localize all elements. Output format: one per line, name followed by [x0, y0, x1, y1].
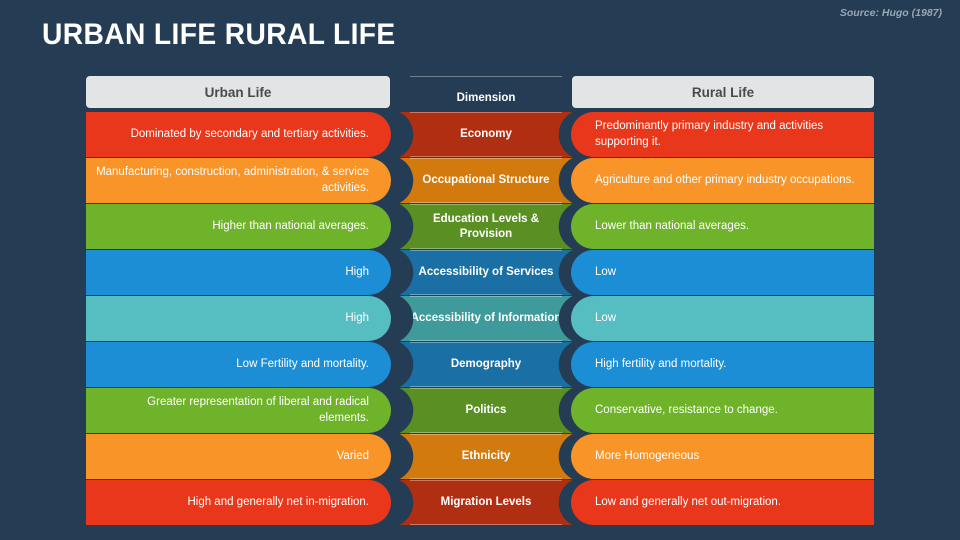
- slide-canvas: URBAN LIFE RURAL LIFE Source: Hugo (1987…: [0, 0, 960, 540]
- table-row: Greater representation of liberal and ra…: [86, 388, 874, 433]
- column-header-urban: Urban Life: [86, 76, 390, 108]
- page-title: URBAN LIFE RURAL LIFE: [42, 18, 396, 52]
- table-row: Dominated by secondary and tertiary acti…: [86, 112, 874, 157]
- dimension-cell: Demography: [392, 342, 580, 387]
- urban-cell: High: [86, 296, 391, 341]
- urban-cell: Greater representation of liberal and ra…: [86, 388, 391, 433]
- urban-cell: Higher than national averages.: [86, 204, 391, 249]
- rural-cell: Conservative, resistance to change.: [571, 388, 874, 433]
- urban-cell: Dominated by secondary and tertiary acti…: [86, 112, 391, 157]
- rural-cell: Low: [571, 250, 874, 295]
- column-header-rural: Rural Life: [572, 76, 874, 108]
- urban-cell: High and generally net in-migration.: [86, 480, 391, 525]
- dimension-cell: Ethnicity: [392, 434, 580, 479]
- dimension-cell: Education Levels & Provision: [392, 204, 580, 249]
- table-row: Low Fertility and mortality.DemographyHi…: [86, 342, 874, 387]
- dimension-cell: Occupational Structure: [392, 158, 580, 203]
- rural-cell: Lower than national averages.: [571, 204, 874, 249]
- table-row: VariedEthnicityMore Homogeneous: [86, 434, 874, 479]
- dimension-cell: Politics: [392, 388, 580, 433]
- urban-cell: High: [86, 250, 391, 295]
- table-row: Manufacturing, construction, administrat…: [86, 158, 874, 203]
- table-row: Higher than national averages.Education …: [86, 204, 874, 249]
- dimension-cell: Economy: [392, 112, 580, 157]
- rural-cell: Agriculture and other primary industry o…: [571, 158, 874, 203]
- urban-cell: Varied: [86, 434, 391, 479]
- urban-cell: Manufacturing, construction, administrat…: [86, 158, 391, 203]
- dimension-cell: Accessibility of Information: [392, 296, 580, 341]
- source-citation: Source: Hugo (1987): [840, 7, 942, 19]
- dimension-cell: Accessibility of Services: [392, 250, 580, 295]
- rural-cell: Predominantly primary industry and activ…: [571, 112, 874, 157]
- table-row: HighAccessibility of ServicesLow: [86, 250, 874, 295]
- rural-cell: High fertility and mortality.: [571, 342, 874, 387]
- table-row: HighAccessibility of InformationLow: [86, 296, 874, 341]
- rural-cell: More Homogeneous: [571, 434, 874, 479]
- dimension-cell: Migration Levels: [392, 480, 580, 525]
- table-row: High and generally net in-migration.Migr…: [86, 480, 874, 525]
- rural-cell: Low: [571, 296, 874, 341]
- comparison-table: Urban Life Dimension Rural Life Dominate…: [86, 76, 874, 526]
- table-header-row: Urban Life Dimension Rural Life: [86, 76, 874, 108]
- urban-cell: Low Fertility and mortality.: [86, 342, 391, 387]
- rural-cell: Low and generally net out-migration.: [571, 480, 874, 525]
